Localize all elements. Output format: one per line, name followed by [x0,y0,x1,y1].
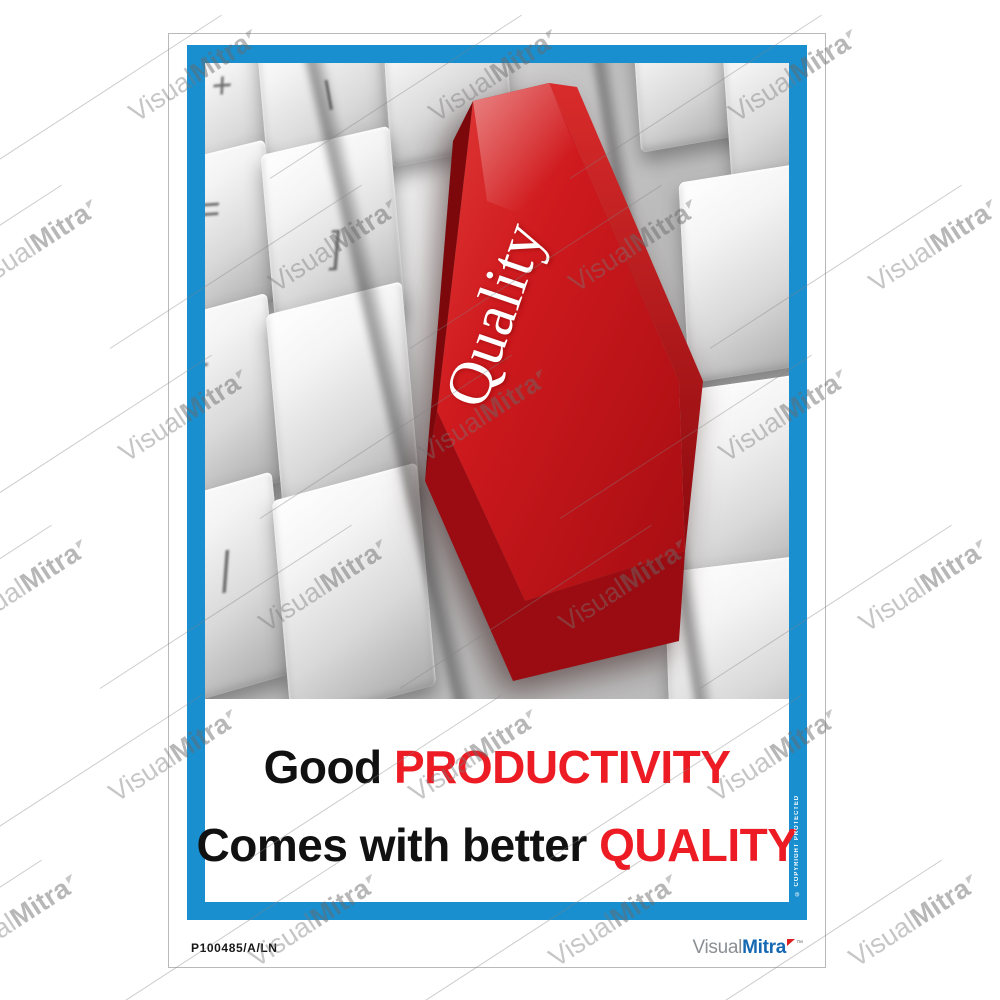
caption-line-2-black: Comes with better [197,819,600,871]
watermark-text: VisualMitra [863,192,1000,298]
logo-trademark: ™ [796,940,803,947]
poster-blue-frame: + \ = ] [ | [187,45,807,920]
key-glyph-bracket-left: [ [205,356,209,409]
red-quality-key [417,81,707,681]
document-code: P100485/A/LN [191,941,278,955]
key-glyph-bracket-right: ] [328,222,343,272]
keyboard-key-blank-c [720,63,789,184]
watermark-text: VisualMitra [843,867,984,973]
watermark-text: VisualMitra [0,867,84,973]
caption-line-1: Good PRODUCTIVITY [264,743,731,791]
caption-line-1-black: Good [264,741,394,793]
keyboard-photo: + \ = ] [ | [205,63,789,699]
caption-line-2-red: QUALITY [599,819,797,871]
watermark-text: VisualMitra [0,532,94,638]
key-glyph-equals: = [205,187,222,233]
poster-sheet: + \ = ] [ | [168,33,826,968]
watermark-rule [0,185,62,349]
watermark-rule [0,525,52,689]
caption-line-1-red: PRODUCTIVITY [394,741,730,793]
logo-flag-icon [787,939,795,946]
copyright-strip: © COPYRIGHT PROTECTED [791,776,803,896]
key-glyph-pipe: | [218,542,233,595]
copyright-text: © COPYRIGHT PROTECTED [794,795,800,896]
caption-line-2: Comes with better QUALITY [197,821,798,869]
visualmitra-logo: VisualMitra™ [692,937,803,959]
logo-text-mitra: Mitra [742,937,786,959]
logo-text-visual: Visual [692,937,742,959]
caption-block: Good PRODUCTIVITY Comes with better QUAL… [205,699,789,902]
watermark-text: VisualMitra [0,192,104,298]
watermark-text: VisualMitra [853,532,994,638]
watermark-rule [0,860,42,1000]
key-glyph-plus: + [211,63,234,107]
poster-footer: P100485/A/LN VisualMitra™ [187,934,807,962]
